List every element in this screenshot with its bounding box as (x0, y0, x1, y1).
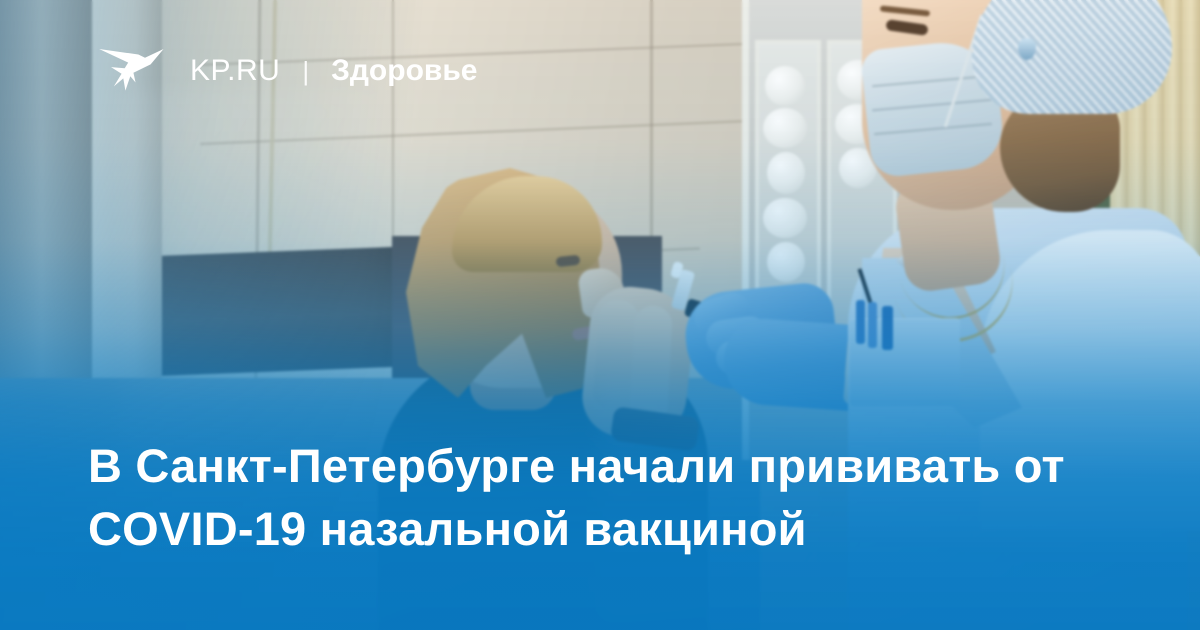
kp-swallow-bird-logo-icon[interactable] (96, 36, 166, 106)
headline: В Санкт-Петербурге начали прививать от C… (88, 434, 1098, 560)
brand-separator: | (298, 56, 313, 87)
brand-name[interactable]: KP.RU (190, 54, 280, 88)
og-preview-card: KP.RU | Здоровье В Санкт-Петербурге нача… (0, 0, 1200, 630)
section-label[interactable]: Здоровье (331, 54, 477, 88)
brand-header: KP.RU | Здоровье (96, 36, 477, 106)
brand-lockup: KP.RU | Здоровье (190, 54, 477, 88)
